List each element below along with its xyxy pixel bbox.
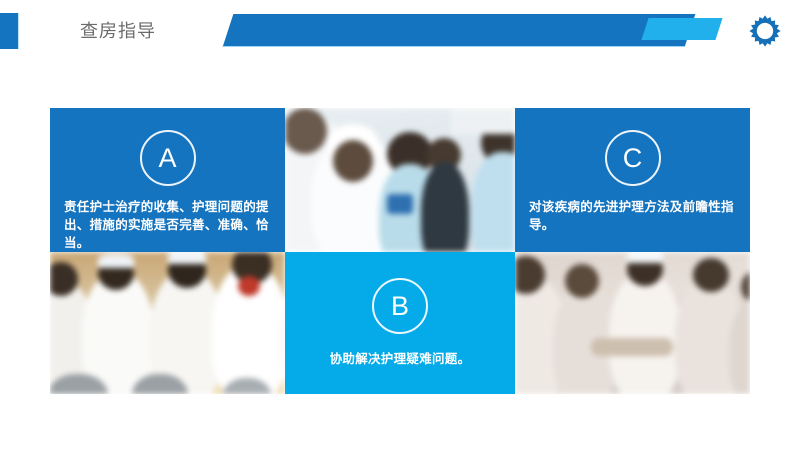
nurses-ward-photo xyxy=(515,252,750,394)
grid-cell-a[interactable]: A 责任护士治疗的收集、护理问题的提出、措施的实施是否完善、准确、恰当。 xyxy=(50,108,285,252)
grid-cell-b-text: 协助解决护理疑难问题。 xyxy=(299,350,501,368)
page-header: 查房指导 xyxy=(0,0,800,70)
badge-letter-c-label: C xyxy=(623,143,643,174)
badge-letter-b-label: B xyxy=(391,291,409,322)
page-title: 查房指导 xyxy=(80,18,156,44)
content-grid: A 责任护士治疗的收集、护理问题的提出、措施的实施是否完善、准确、恰当。 xyxy=(50,108,750,394)
badge-letter-c: C xyxy=(605,130,661,186)
doctors-group-photo xyxy=(50,252,285,394)
nurses-hallway-photo-image xyxy=(285,108,515,252)
badge-letter-b: B xyxy=(372,278,428,334)
header-banner-primary xyxy=(223,14,696,47)
photo-content xyxy=(50,252,285,394)
badge-letter-a: A xyxy=(140,130,196,186)
photo-content xyxy=(285,108,515,252)
grid-cell-a-text: 责任护士治疗的收集、护理问题的提出、措施的实施是否完善、准确、恰当。 xyxy=(64,198,271,252)
grid-cell-c-text: 对该疾病的先进护理方法及前瞻性指导。 xyxy=(529,198,736,234)
gear-icon[interactable] xyxy=(748,14,782,48)
doctors-group-photo-image xyxy=(50,252,285,394)
accent-tab xyxy=(0,13,19,49)
grid-cell-c[interactable]: C 对该疾病的先进护理方法及前瞻性指导。 xyxy=(515,108,750,252)
photo-content xyxy=(515,252,750,394)
badge-letter-a-label: A xyxy=(158,143,176,174)
grid-cell-b[interactable]: B 协助解决护理疑难问题。 xyxy=(285,252,515,394)
nurses-hallway-photo xyxy=(285,108,515,252)
header-banner-accent xyxy=(641,18,722,40)
nurses-ward-photo-image xyxy=(515,252,750,394)
